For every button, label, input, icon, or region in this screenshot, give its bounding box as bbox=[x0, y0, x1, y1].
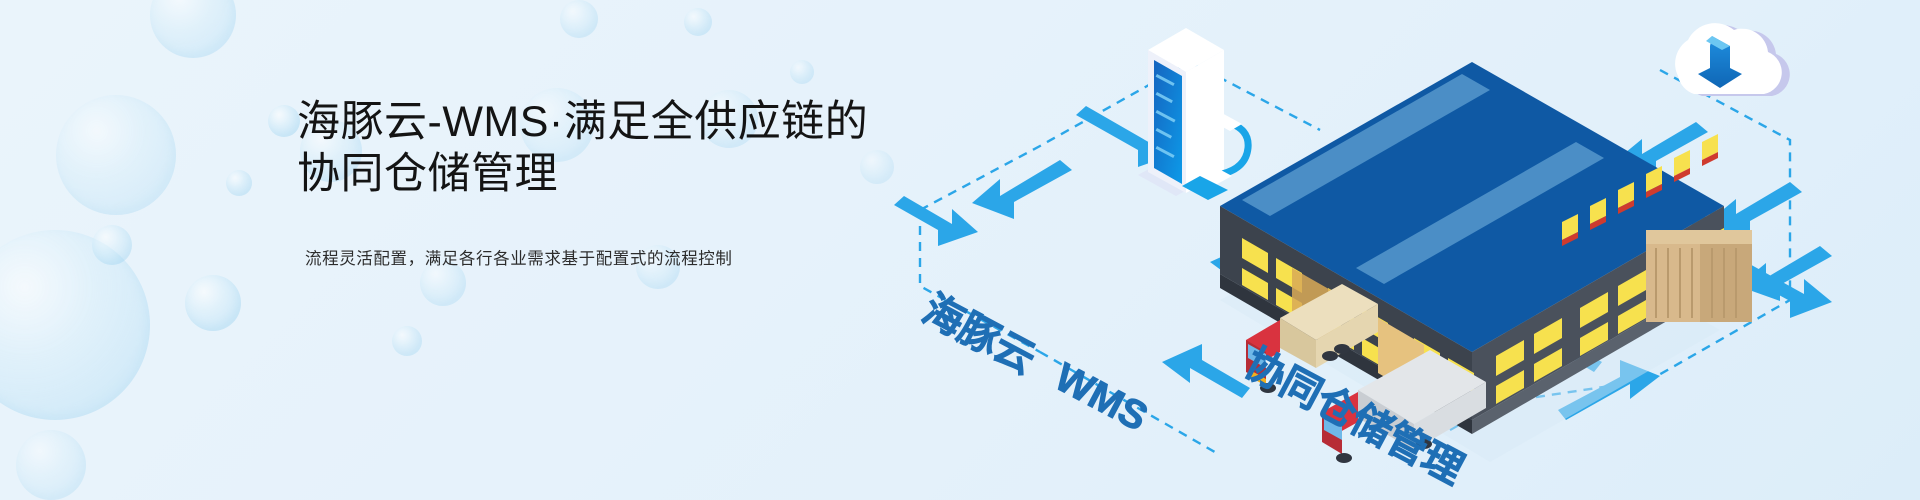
hero-copy: 海豚云-WMS·满足全供应链的 协同仓储管理 流程灵活配置，满足各行各业需求基于… bbox=[297, 96, 937, 269]
product-3d-label: WMS bbox=[1048, 355, 1155, 440]
bubble bbox=[150, 0, 236, 58]
bubble bbox=[560, 0, 598, 38]
hero-illustration: 海豚云 WMS 协同仓储管理 bbox=[890, 0, 1920, 500]
bubble bbox=[392, 326, 422, 356]
bubble bbox=[92, 225, 132, 265]
bubble bbox=[0, 230, 150, 420]
bubble bbox=[268, 105, 300, 137]
bubble bbox=[16, 430, 86, 500]
hero-subtitle: 流程灵活配置，满足各行各业需求基于配置式的流程控制 bbox=[305, 245, 937, 269]
brand-3d-label: 海豚云 bbox=[916, 287, 1043, 382]
bubble bbox=[790, 60, 814, 84]
server-kiosk bbox=[1138, 28, 1248, 200]
cloud-download-icon bbox=[1675, 23, 1790, 96]
bubble bbox=[185, 275, 241, 331]
bubble bbox=[226, 170, 252, 196]
page-title: 海豚云-WMS·满足全供应链的 协同仓储管理 bbox=[297, 96, 937, 201]
hero-banner: 海豚云-WMS·满足全供应链的 协同仓储管理 流程灵活配置，满足各行各业需求基于… bbox=[0, 0, 1920, 500]
bubble bbox=[56, 95, 176, 215]
shipping-container bbox=[1646, 230, 1752, 322]
bubble bbox=[684, 8, 712, 36]
